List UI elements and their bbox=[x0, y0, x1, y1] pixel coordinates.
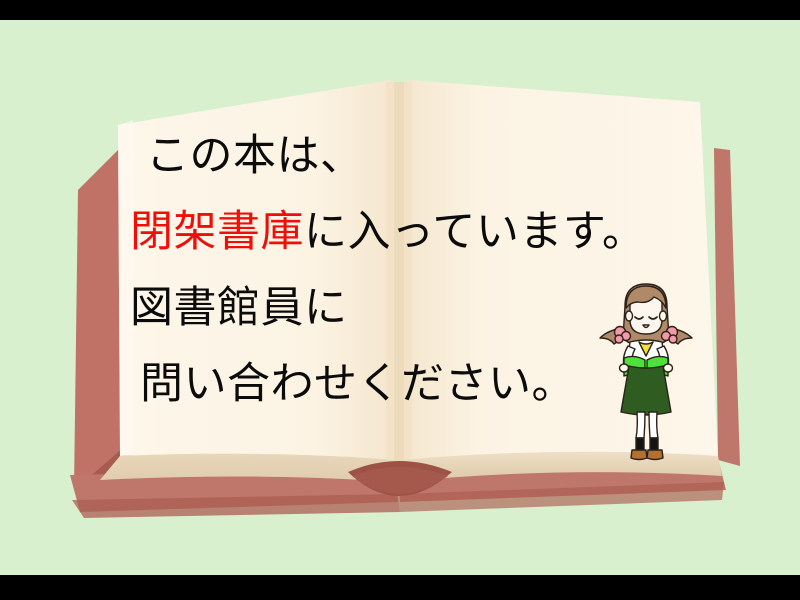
shoe-right bbox=[647, 450, 663, 460]
letterbox-bar-top bbox=[0, 0, 800, 20]
message-line-2-rest: に入っています。 bbox=[304, 207, 646, 257]
leg-right bbox=[649, 412, 658, 438]
ear-right bbox=[660, 311, 667, 321]
mouth bbox=[643, 325, 649, 328]
letterbox-bar-bottom bbox=[0, 575, 800, 600]
skirt bbox=[621, 366, 671, 415]
slide-canvas: この本は、 閉架書庫に入っています。 図書館員に 問い合わせください。 bbox=[0, 0, 800, 600]
message-line-1: この本は、 bbox=[130, 118, 690, 194]
message-line-2: 閉架書庫に入っています。 bbox=[130, 194, 690, 270]
hand-left bbox=[620, 364, 629, 372]
shoe-left bbox=[631, 450, 647, 460]
sock-cuff-left bbox=[636, 438, 644, 450]
message-highlight-closed-stacks: 閉架書庫 bbox=[130, 207, 304, 257]
ear-left bbox=[626, 311, 633, 321]
leg-left bbox=[636, 412, 645, 438]
hand-right bbox=[664, 364, 673, 372]
girl-reading-illustration bbox=[592, 272, 700, 462]
sock-cuff-right bbox=[650, 438, 658, 450]
